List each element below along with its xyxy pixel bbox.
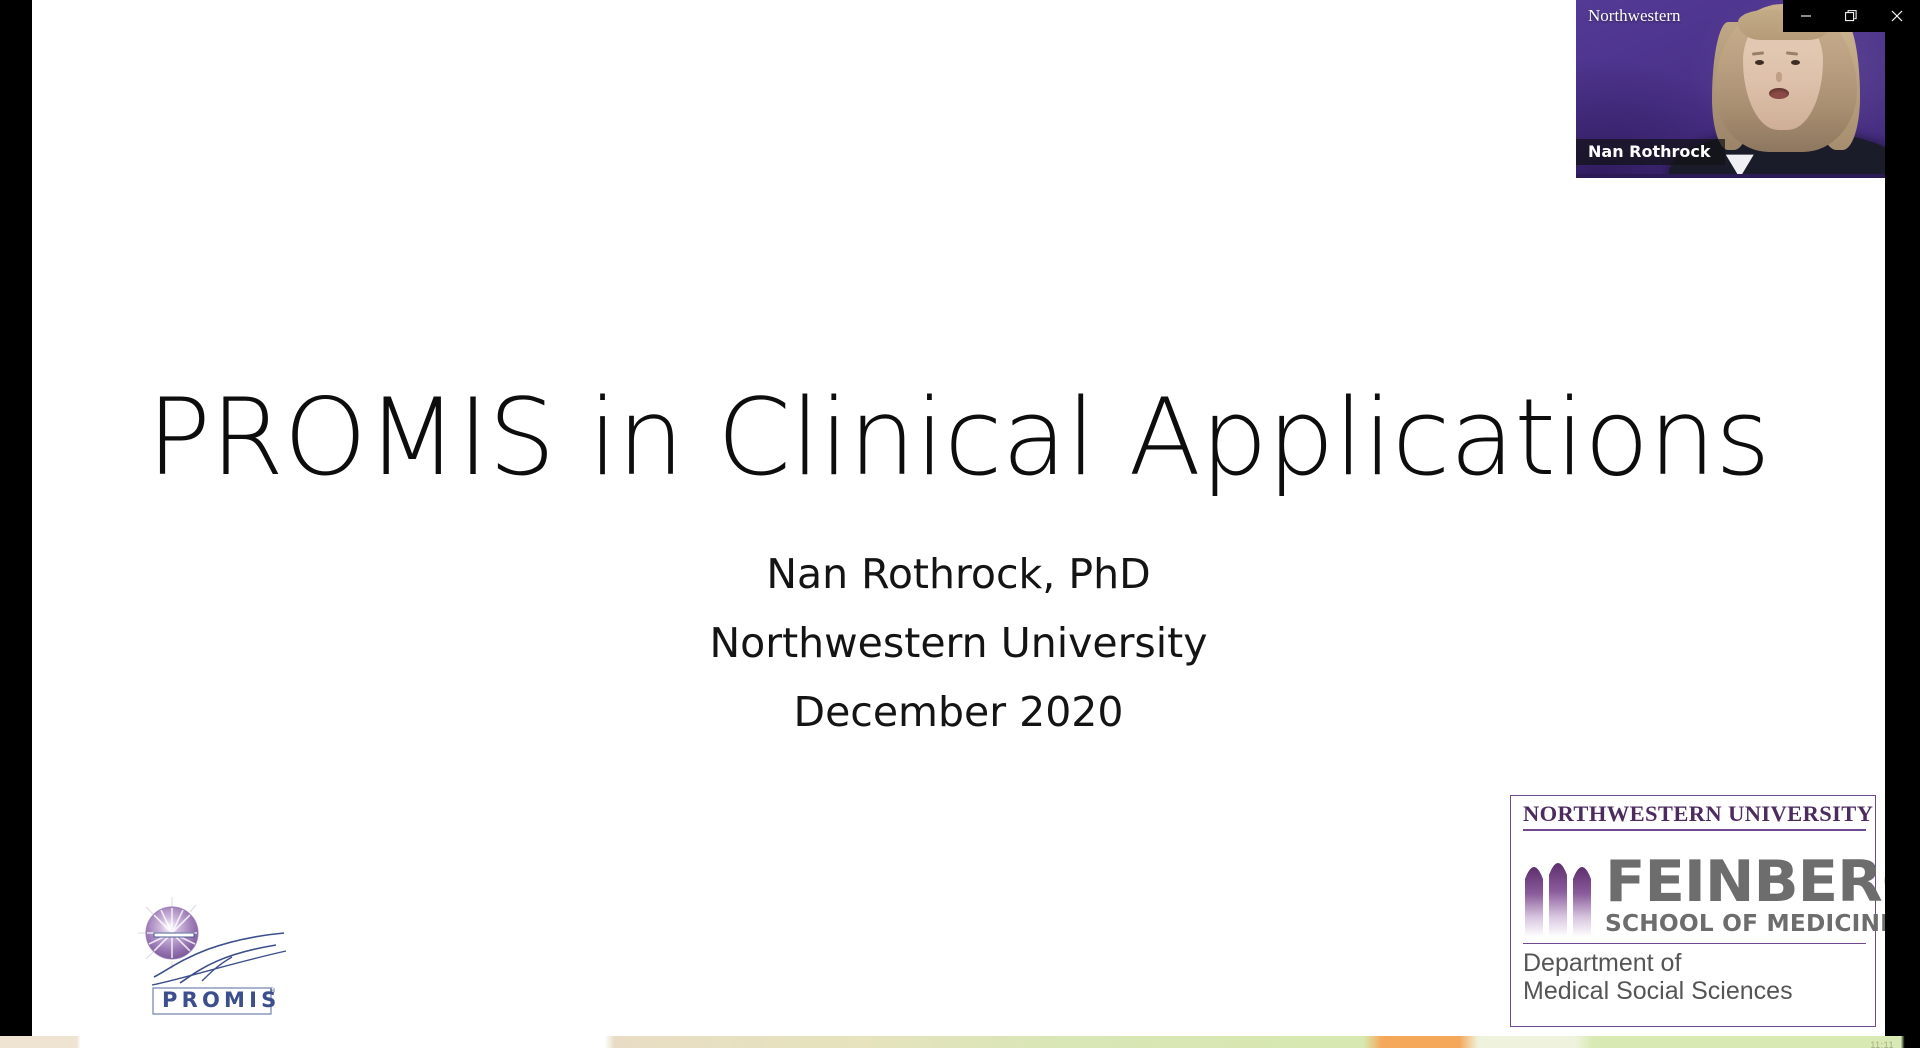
feinberg-department-line1: Department of bbox=[1523, 949, 1866, 977]
subtitle-line-affiliation: Northwestern University bbox=[32, 609, 1885, 678]
close-button[interactable] bbox=[1875, 0, 1920, 32]
slide-subtitle-block: Nan Rothrock, PhD Northwestern Universit… bbox=[32, 540, 1885, 747]
slide-title: PROMIS in Clinical Applications bbox=[32, 382, 1885, 493]
window-titlebar bbox=[1783, 0, 1920, 32]
feinberg-school-sub: SCHOOL OF MEDICINE bbox=[1605, 911, 1885, 937]
svg-text:PROMIS: PROMIS bbox=[162, 988, 280, 1012]
feinberg-school-name: FEINBERG bbox=[1605, 856, 1885, 909]
promis-logo: PROMIS ® bbox=[136, 893, 288, 1021]
minimize-button[interactable] bbox=[1783, 0, 1828, 32]
background-window-sliver[interactable]: 11:11 bbox=[0, 1036, 1920, 1048]
screen-root: 11:11 PROMIS in Clinical Applications Na… bbox=[0, 0, 1920, 1048]
subtitle-line-date: December 2020 bbox=[32, 678, 1885, 747]
subtitle-line-presenter: Nan Rothrock, PhD bbox=[32, 540, 1885, 609]
video-watermark: Northwestern bbox=[1588, 6, 1681, 26]
taskbar-clock: 11:11 bbox=[1870, 1040, 1894, 1048]
restore-button[interactable] bbox=[1829, 0, 1874, 32]
feinberg-university-name: NORTHWESTERN UNIVERSITY bbox=[1523, 802, 1866, 826]
video-bottom-bar bbox=[1576, 174, 1885, 178]
feinberg-logo: NORTHWESTERN UNIVERSITY bbox=[1510, 795, 1876, 1027]
gothic-arches-icon bbox=[1523, 849, 1595, 937]
svg-text:®: ® bbox=[269, 987, 276, 995]
feinberg-rule-bottom bbox=[1523, 943, 1866, 945]
participant-name-label: Nan Rothrock bbox=[1576, 139, 1725, 165]
feinberg-wordmark: FEINBERG SCHOOL OF MEDICINE bbox=[1605, 856, 1885, 937]
feinberg-department-line2: Medical Social Sciences bbox=[1523, 977, 1866, 1005]
feinberg-rule-top bbox=[1523, 829, 1866, 831]
feinberg-lockup: FEINBERG SCHOOL OF MEDICINE bbox=[1523, 833, 1866, 937]
